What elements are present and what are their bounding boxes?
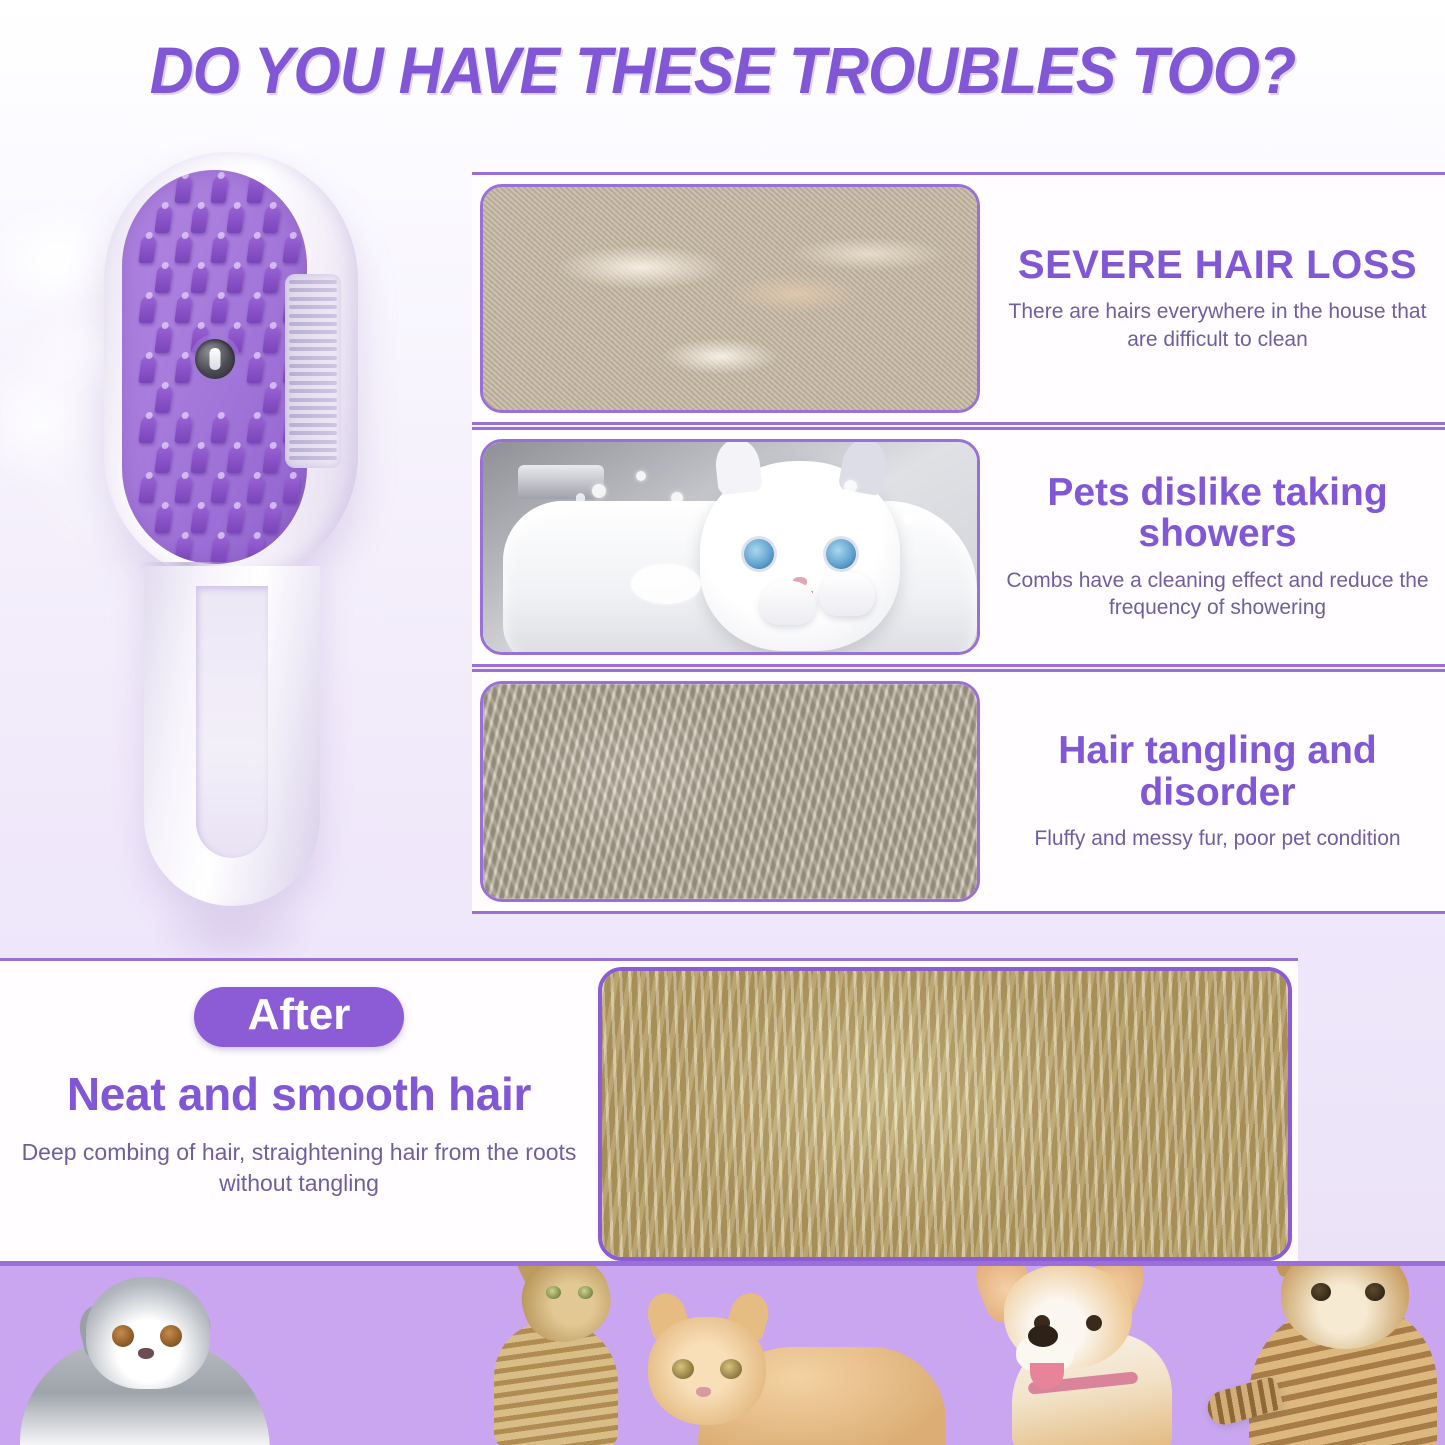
water-droplet	[844, 480, 857, 493]
water-droplet	[636, 471, 646, 481]
trouble-title: Pets dislike taking showers	[1006, 472, 1429, 555]
water-bubble	[799, 505, 825, 531]
bristle	[210, 176, 228, 203]
trouble-description: Fluffy and messy fur, poor pet condition	[1006, 825, 1429, 853]
photo-smooth-fur	[598, 967, 1292, 1261]
comb-tooth	[289, 431, 337, 435]
bristle	[210, 536, 228, 563]
after-result-section: After Neat and smooth hair Deep combing …	[0, 958, 1298, 1261]
trouble-description: There are hairs everywhere in the house …	[1006, 298, 1429, 353]
bristle	[262, 266, 280, 293]
after-text-block: After Neat and smooth hair Deep combing …	[0, 961, 598, 1261]
comb-tooth	[289, 381, 337, 385]
silicone-bristle-pad	[122, 170, 307, 564]
bristle	[154, 266, 172, 293]
bristle	[154, 446, 172, 473]
cat-eye-right	[160, 1325, 182, 1347]
photo-tangled-fur	[480, 681, 980, 902]
bristle	[190, 446, 208, 473]
after-title: Neat and smooth hair	[67, 1067, 531, 1121]
bristle	[190, 266, 208, 293]
carpet-texture	[483, 187, 977, 410]
smooth-fur-texture	[602, 971, 1288, 1257]
bristle	[246, 536, 264, 563]
bristle	[282, 236, 300, 263]
bristle	[190, 506, 208, 533]
bristle	[138, 476, 156, 503]
comb-tooth	[289, 330, 337, 334]
water-droplet	[592, 484, 606, 498]
bristle	[262, 506, 280, 533]
bristle	[246, 476, 264, 503]
bristle	[262, 386, 280, 413]
cat-head	[648, 1317, 766, 1425]
trouble-title: SEVERE HAIR LOSS	[1006, 244, 1429, 286]
comb-tooth	[289, 280, 337, 284]
bristle	[174, 536, 192, 563]
bristle	[226, 206, 244, 233]
comb-tooth	[289, 305, 337, 309]
messy-fur-texture	[483, 684, 977, 899]
comb-tooth	[289, 423, 337, 427]
brush-handle	[144, 566, 320, 906]
product-image	[58, 130, 458, 940]
comb-tooth	[289, 398, 337, 402]
cat-eye-left	[672, 1359, 694, 1379]
bristle	[174, 236, 192, 263]
cat-paw-left	[760, 581, 816, 625]
bristle	[138, 296, 156, 323]
bristle	[138, 356, 156, 383]
trouble-card-hair-loss: SEVERE HAIR LOSS There are hairs everywh…	[472, 172, 1445, 425]
bristle	[226, 266, 244, 293]
bristle	[138, 236, 156, 263]
pet-corgi-dog	[960, 1261, 1210, 1445]
trouble-card-tangling: Hair tangling and disorder Fluffy and me…	[472, 669, 1445, 914]
bristle	[154, 386, 172, 413]
trouble-description: Combs have a cleaning effect and reduce …	[1006, 567, 1429, 622]
bristle	[210, 476, 228, 503]
comb-tooth	[289, 440, 337, 444]
comb-tooth	[289, 448, 337, 452]
cat-eye-right	[1365, 1283, 1385, 1301]
cat-eye-left	[112, 1325, 134, 1347]
photo-cat-in-bathtub	[480, 439, 980, 655]
bristle	[282, 476, 300, 503]
comb-tooth	[289, 406, 337, 410]
pet-gallery-strip	[0, 1261, 1445, 1445]
bristle	[190, 206, 208, 233]
bristle	[174, 296, 192, 323]
bristle	[174, 356, 192, 383]
brush-head	[104, 152, 358, 582]
cat-ear-left	[714, 439, 763, 495]
bristle	[246, 416, 264, 443]
pet-grey-white-cat	[20, 1276, 270, 1445]
bristle	[154, 206, 172, 233]
bristle	[262, 326, 280, 353]
cat-eye-left	[744, 539, 774, 569]
bristle	[174, 176, 192, 203]
bristle	[246, 176, 264, 203]
trouble-text-block: Hair tangling and disorder Fluffy and me…	[980, 730, 1445, 852]
comb-tooth	[289, 456, 337, 460]
comb-tooth	[289, 364, 337, 368]
comb-tooth	[289, 372, 337, 376]
comb-tooth	[289, 322, 337, 326]
handle-loop-opening	[196, 586, 268, 858]
bristle	[154, 326, 172, 353]
comb-tooth	[289, 347, 337, 351]
cat-eye-right	[826, 539, 856, 569]
trouble-text-block: SEVERE HAIR LOSS There are hairs everywh…	[980, 244, 1445, 354]
dog-eye-right	[1086, 1315, 1102, 1331]
bristle	[174, 416, 192, 443]
steam-nozzle-icon	[195, 339, 235, 379]
comb-teeth	[285, 274, 341, 468]
cat-nose	[696, 1387, 711, 1397]
faucet-icon	[518, 465, 604, 499]
water-splash	[631, 564, 701, 604]
cat-eye-right	[720, 1359, 742, 1379]
comb-tooth	[289, 339, 337, 343]
bristle	[262, 206, 280, 233]
cat-eye-left	[546, 1286, 561, 1299]
cat-nose	[138, 1348, 154, 1359]
comb-tooth	[289, 314, 337, 318]
page-title: DO YOU HAVE THESE TROUBLES TOO?	[58, 34, 1387, 106]
cat-eye-right	[578, 1286, 593, 1299]
bristle	[246, 356, 264, 383]
bristle	[138, 416, 156, 443]
after-badge: After	[194, 987, 405, 1047]
comb-tooth	[289, 414, 337, 418]
bristle	[226, 446, 244, 473]
cat-paw-right	[819, 572, 875, 616]
bristle	[246, 296, 264, 323]
bristle	[174, 476, 192, 503]
comb-tooth	[289, 389, 337, 393]
trouble-card-dislike-showers: Pets dislike taking showers Combs have a…	[472, 427, 1445, 667]
bristle	[210, 416, 228, 443]
after-description: Deep combing of hair, straightening hair…	[0, 1137, 598, 1200]
comb-tooth	[289, 288, 337, 292]
bristle	[210, 296, 228, 323]
comb-tooth	[289, 297, 337, 301]
cat-eye-left	[1311, 1283, 1331, 1301]
photo-pet-hair-on-carpet	[480, 184, 980, 413]
pet-fluffy-brown-cat	[1207, 1261, 1437, 1445]
bristle	[246, 236, 264, 263]
comb-tooth	[289, 356, 337, 360]
pet-orange-cat	[620, 1305, 950, 1445]
bristle	[226, 506, 244, 533]
cat-head	[86, 1277, 210, 1389]
bristle	[262, 446, 280, 473]
bathroom-scene	[483, 442, 977, 652]
trouble-text-block: Pets dislike taking showers Combs have a…	[980, 472, 1445, 622]
bristle	[210, 236, 228, 263]
bristle	[154, 506, 172, 533]
trouble-title: Hair tangling and disorder	[1006, 730, 1429, 813]
dog-nose	[1028, 1325, 1058, 1347]
